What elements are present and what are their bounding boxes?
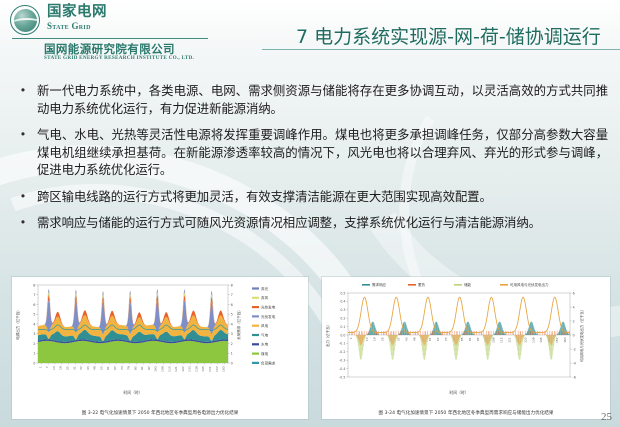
svg-text:储能: 储能 — [464, 282, 472, 287]
figure-3-22: 001122334455667788电源出力（亿千瓦）负荷需求（亿千瓦）时间（时… — [12, 277, 308, 419]
svg-text:67: 67 — [436, 337, 440, 341]
svg-text:91: 91 — [140, 366, 144, 370]
svg-text:6: 6 — [33, 303, 35, 307]
svg-text:73: 73 — [120, 366, 124, 370]
svg-text:73: 73 — [444, 337, 448, 341]
svg-text:19: 19 — [59, 366, 63, 370]
svg-text:可用风电与光伏发电出力（亿千瓦）: 可用风电与光伏发电出力（亿千瓦） — [579, 308, 584, 362]
svg-text:0.2: 0.2 — [340, 317, 345, 321]
svg-text:61: 61 — [106, 366, 110, 370]
list-item: • 新一代电力系统中，各类电源、电网、需求侧资源与储能将存在更多协调互动，以灵活… — [18, 82, 608, 117]
svg-text:电源出力（亿千瓦）: 电源出力（亿千瓦） — [15, 308, 20, 340]
svg-text:133: 133 — [523, 337, 527, 343]
svg-text:109: 109 — [492, 337, 496, 343]
svg-text:139: 139 — [194, 366, 198, 372]
svg-text:-0.3: -0.3 — [339, 359, 345, 363]
figure-caption: 图 3-24 电气化加速情景下 2050 年西北地区冬季典型周需求响应与储能出力… — [322, 410, 610, 416]
svg-text:光伏发电: 光伏发电 — [261, 314, 276, 319]
svg-text:145: 145 — [539, 337, 543, 343]
svg-text:时间（时）: 时间（时） — [450, 390, 469, 395]
svg-text:151: 151 — [208, 366, 212, 372]
slide-header: 国家电网 State Grid 国网能源研究院有限公司 STATE GRID E… — [0, 0, 620, 52]
svg-text:25: 25 — [66, 366, 70, 370]
svg-text:8: 8 — [231, 283, 233, 287]
svg-text:43: 43 — [86, 366, 90, 370]
svg-text:0: 0 — [231, 361, 233, 365]
svg-text:127: 127 — [181, 366, 185, 372]
svg-text:121: 121 — [174, 366, 178, 372]
svg-text:弃风: 弃风 — [261, 295, 269, 300]
svg-text:13: 13 — [365, 337, 369, 341]
demand-storage-chart: 0.50.40.30.20.10.0-0.1-0.2-0.3-0.4-0.564… — [322, 277, 610, 397]
svg-text:55: 55 — [99, 366, 103, 370]
svg-text:4: 4 — [231, 322, 233, 326]
svg-text:43: 43 — [404, 337, 408, 341]
figure-3-24: 0.50.40.30.20.10.0-0.1-0.2-0.3-0.4-0.564… — [322, 277, 610, 419]
svg-text:出力（亿千瓦）: 出力（亿千瓦） — [325, 323, 330, 347]
list-item: • 跨区输电线路的运行方式将更加灵活，有效支撑清洁能源在更大范围实现高效配置。 — [18, 188, 608, 206]
svg-text:4: 4 — [33, 322, 35, 326]
list-item: • 气电、水电、光热等灵活性电源将发挥重要调峰作用。煤电也将更多承担调峰任务，仅… — [18, 126, 608, 179]
svg-text:-0.4: -0.4 — [339, 367, 345, 371]
svg-text:37: 37 — [397, 337, 401, 341]
svg-text:蓄热: 蓄热 — [418, 282, 426, 287]
svg-text:6: 6 — [231, 303, 233, 307]
svg-text:1: 1 — [231, 352, 233, 356]
svg-text:光热发电: 光热发电 — [261, 305, 276, 310]
svg-text:115: 115 — [167, 366, 171, 372]
svg-text:5: 5 — [33, 313, 35, 317]
svg-text:157: 157 — [555, 337, 559, 343]
svg-text:7: 7 — [45, 366, 49, 368]
svg-text:弃光: 弃光 — [261, 286, 269, 291]
page-number: 25 — [601, 411, 612, 423]
svg-text:-6: -6 — [573, 375, 576, 379]
svg-text:1: 1 — [38, 366, 42, 368]
page-title: 7 电力系统实现源-网-荷-储协调运行 — [296, 22, 601, 49]
svg-text:水电: 水电 — [261, 342, 269, 347]
svg-text:25: 25 — [381, 337, 385, 341]
bullet-marker: • — [18, 188, 28, 206]
bullet-marker: • — [18, 214, 28, 232]
svg-text:负荷需求: 负荷需求 — [261, 360, 276, 365]
bullet-text: 新一代电力系统中，各类电源、电网、需求侧资源与储能将存在更多协调互动，以灵活高效… — [37, 82, 608, 117]
svg-text:5: 5 — [231, 313, 233, 317]
svg-text:49: 49 — [412, 337, 416, 341]
svg-text:115: 115 — [500, 337, 504, 343]
svg-text:37: 37 — [79, 366, 83, 370]
svg-text:需求响应: 需求响应 — [372, 282, 386, 287]
svg-text:0.0: 0.0 — [340, 333, 345, 337]
brand-logo: 国家电网 State Grid — [10, 5, 107, 35]
brand-en-name: State Grid — [47, 22, 107, 31]
svg-text:85: 85 — [460, 337, 464, 341]
bullet-text: 气电、水电、光热等灵活性电源将发挥重要调峰作用。煤电也将更多承担调峰任务，仅部分… — [37, 126, 608, 179]
svg-text:85: 85 — [133, 366, 137, 370]
svg-text:6: 6 — [573, 291, 575, 295]
svg-text:0: 0 — [573, 333, 575, 337]
svg-text:-0.2: -0.2 — [339, 350, 345, 354]
svg-text:7: 7 — [231, 293, 233, 297]
svg-text:8: 8 — [33, 283, 35, 287]
svg-text:气电: 气电 — [261, 332, 269, 337]
svg-text:0.5: 0.5 — [340, 291, 345, 295]
svg-text:67: 67 — [113, 366, 117, 370]
svg-text:13: 13 — [52, 366, 56, 370]
svg-text:3: 3 — [33, 332, 35, 336]
svg-text:2: 2 — [231, 342, 233, 346]
svg-text:61: 61 — [428, 337, 432, 341]
bullet-marker: • — [18, 126, 28, 179]
bullet-list: • 新一代电力系统中，各类电源、电网、需求侧资源与储能将存在更多协调互动，以灵活… — [18, 82, 608, 241]
svg-text:0.4: 0.4 — [340, 300, 345, 304]
bullet-text: 跨区输电线路的运行方式将更加灵活，有效支撑清洁能源在更大范围实现高效配置。 — [37, 188, 492, 206]
svg-text:2: 2 — [573, 319, 575, 323]
svg-text:133: 133 — [188, 366, 192, 372]
svg-text:-0.5: -0.5 — [339, 375, 345, 379]
bullet-text: 需求响应与储能的运行方式可随风光资源情况相应调整，支撑系统优化运行与清洁能源消纳… — [37, 214, 541, 232]
svg-text:97: 97 — [147, 366, 151, 370]
svg-text:-0.1: -0.1 — [339, 342, 345, 346]
svg-text:91: 91 — [468, 337, 472, 341]
list-item: • 需求响应与储能的运行方式可随风光资源情况相应调整，支撑系统优化运行与清洁能源… — [18, 214, 608, 232]
svg-text:139: 139 — [531, 337, 535, 343]
svg-text:2: 2 — [33, 342, 35, 346]
svg-text:19: 19 — [373, 337, 377, 341]
stacked-area-chart: 001122334455667788电源出力（亿千瓦）负荷需求（亿千瓦）时间（时… — [12, 277, 308, 397]
svg-text:0.3: 0.3 — [340, 308, 345, 312]
svg-text:145: 145 — [201, 366, 205, 372]
institute-en-name: STATE GRID ENERGY RESEARCH INSTITUTE CO.… — [44, 55, 194, 61]
svg-text:163: 163 — [222, 366, 226, 372]
svg-text:4: 4 — [573, 305, 575, 309]
title-underline — [262, 49, 620, 50]
svg-text:0: 0 — [33, 361, 35, 365]
svg-text:103: 103 — [154, 366, 158, 372]
svg-text:7: 7 — [33, 293, 35, 297]
svg-text:157: 157 — [215, 366, 219, 372]
bullet-marker: • — [18, 82, 28, 117]
presentation-slide: 国家电网 State Grid 国网能源研究院有限公司 STATE GRID E… — [0, 0, 620, 427]
svg-text:109: 109 — [161, 366, 165, 372]
svg-text:121: 121 — [508, 337, 512, 343]
svg-text:-4: -4 — [573, 361, 576, 365]
svg-text:负荷需求（亿千瓦）: 负荷需求（亿千瓦） — [236, 308, 241, 340]
state-grid-globe-icon — [10, 5, 40, 35]
brand-cn-name: 国家电网 — [47, 5, 107, 20]
svg-text:可用风电与光伏发电出力: 可用风电与光伏发电出力 — [510, 282, 549, 287]
svg-text:煤电: 煤电 — [261, 351, 269, 356]
svg-text:79: 79 — [127, 366, 131, 370]
svg-text:1: 1 — [33, 352, 35, 356]
svg-text:3: 3 — [231, 332, 233, 336]
brand-divider — [12, 38, 208, 39]
svg-text:49: 49 — [93, 366, 97, 370]
svg-text:1: 1 — [349, 337, 353, 339]
svg-text:163: 163 — [563, 337, 567, 343]
svg-text:-2: -2 — [573, 347, 576, 351]
svg-text:时间（时）: 时间（时） — [124, 390, 143, 395]
svg-text:97: 97 — [476, 337, 480, 341]
svg-text:风电: 风电 — [261, 323, 269, 328]
svg-text:0.1: 0.1 — [340, 325, 345, 329]
figure-caption: 图 3-22 电气化加速情景下 2050 年西北地区冬季典型周各电源出力优化结果 — [12, 410, 308, 416]
svg-text:31: 31 — [72, 366, 76, 370]
